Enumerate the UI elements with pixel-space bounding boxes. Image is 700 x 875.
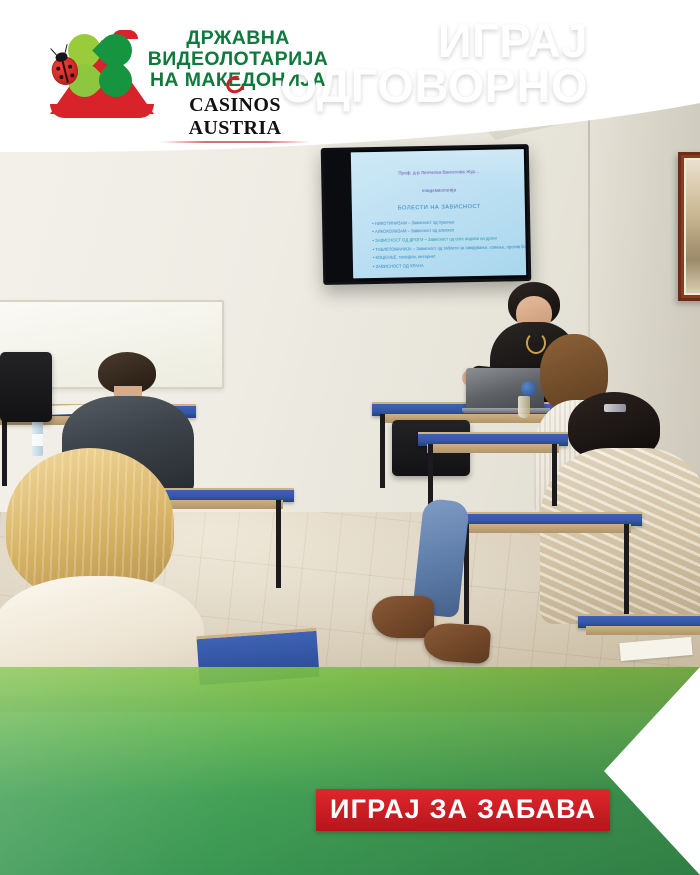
student-desk-right-front (452, 512, 642, 622)
chair-left (0, 352, 52, 422)
desk-leg (276, 500, 281, 588)
responsible-gaming-banner (0, 667, 700, 875)
chair-back (0, 352, 52, 422)
desk-apron (427, 444, 559, 453)
bottle-label (32, 434, 43, 446)
ladybug-dot (59, 75, 64, 80)
desk-leg (428, 444, 433, 506)
ladybug-dot (70, 73, 75, 78)
hair-clip (604, 404, 626, 412)
framed-picture (678, 152, 700, 301)
drinking-glass (518, 396, 530, 418)
boot (372, 596, 434, 638)
play-for-fun-badge: ИГРАЈ ЗА ЗАБАВА (316, 789, 610, 831)
banner-sheen (0, 667, 700, 875)
ladybug-split-line (61, 59, 68, 83)
wall-mounted-display: Проф. д-р Ленчелка Вангелова Жур... епид… (321, 144, 532, 285)
banner-headline: ИГРАЈ ОДГОВОРНО (280, 18, 588, 108)
poster: Проф. д-р Ленчелка Вангелова Жур... епид… (0, 0, 700, 875)
framed-picture-art (684, 158, 700, 295)
attendee-blonde-foreground (0, 448, 204, 688)
slide-bullet: • ЗАВИСНОСТ ОД ХРАНА (373, 260, 516, 271)
desk-leg (552, 444, 557, 506)
desk-apron (586, 626, 700, 635)
headline-line-1: ИГРАЈ (280, 18, 588, 63)
desk-apron (463, 524, 630, 533)
triangle-base (50, 104, 154, 118)
ladybug-dot (56, 66, 61, 71)
desk-leg (380, 414, 385, 488)
ladybug-dot (68, 64, 73, 69)
display-screen: Проф. д-р Ленчелка Вангелова Жур... епид… (351, 149, 526, 278)
student-desk-right-back (418, 432, 568, 502)
casinos-austria-c-icon (223, 73, 248, 97)
casinos-austria-rule (160, 141, 310, 143)
headline-line-2: ОДГОВОРНО (280, 63, 588, 108)
desk-leg (624, 524, 629, 624)
laptop (466, 368, 544, 412)
slide-bullet-list: • НИКОТИНИЗАМ – Зависност од пушење • АЛ… (372, 217, 516, 271)
